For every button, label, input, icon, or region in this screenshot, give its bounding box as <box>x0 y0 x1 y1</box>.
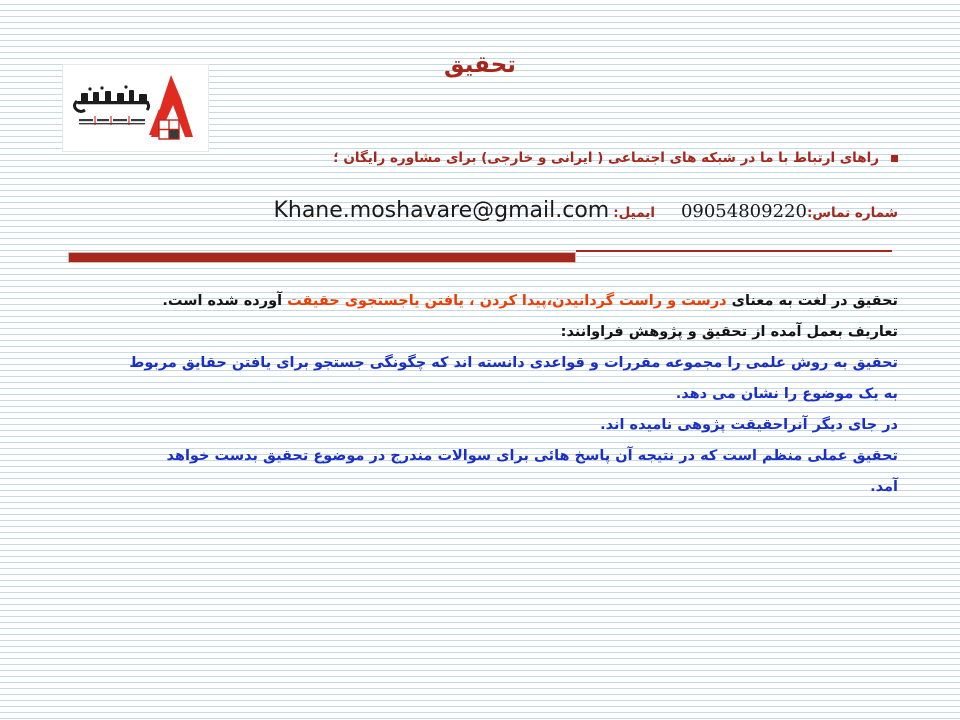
contact-intro-bullet-row: راهای ارتباط با ما در شبکه های اجتماعی (… <box>333 150 898 166</box>
phone-group: شماره تماس:09054809220 <box>681 201 898 222</box>
contact-intro-text: راهای ارتباط با ما در شبکه های اجتماعی (… <box>333 150 879 166</box>
body-line-4: به یک موضوع را نشان می دهد. <box>48 379 898 410</box>
contact-row: شماره تماس:09054809220 ایمیل: Khane.mosh… <box>62 198 898 223</box>
section-divider <box>68 250 892 264</box>
body-line-3: تحقیق به روش علمی را مجموعه مقررات و قوا… <box>48 348 898 379</box>
phone-label: شماره تماس: <box>807 205 898 221</box>
divider-thin-line <box>576 250 892 252</box>
square-bullet-icon <box>891 155 898 162</box>
email-label: ایمیل: <box>613 205 655 221</box>
email-address[interactable]: Khane.moshavare@gmail.com <box>273 198 609 223</box>
body-line-1-part-a: تحقیق در لغت به معنای <box>727 293 898 309</box>
body-line-1: تحقیق در لغت به معنای درست و راست گردانی… <box>48 286 898 317</box>
phone-number[interactable]: 09054809220 <box>681 201 807 222</box>
page-title: تحقیق <box>0 52 960 78</box>
body-text-block: تحقیق در لغت به معنای درست و راست گردانی… <box>48 286 898 503</box>
presentation-slide: تحقیق راهای ارتباط با ما در شبکه های اجت… <box>0 0 960 720</box>
body-line-1-highlight: درست و راست گردانیدن،پیدا کردن ، یافتن ی… <box>287 293 726 309</box>
body-line-5: در جای دیگر آنراحقیقت پژوهی نامیده اند. <box>48 410 898 441</box>
body-line-1-part-c: آورده شده است. <box>162 293 287 309</box>
body-line-6: تحقیق عملی منظم است که در نتیجه آن پاسخ … <box>48 441 898 472</box>
body-line-7: آمد. <box>48 472 898 503</box>
divider-thick-bar <box>68 252 576 263</box>
body-line-2: تعاریف بعمل آمده از تحقیق و پژوهش فراوان… <box>48 317 898 348</box>
